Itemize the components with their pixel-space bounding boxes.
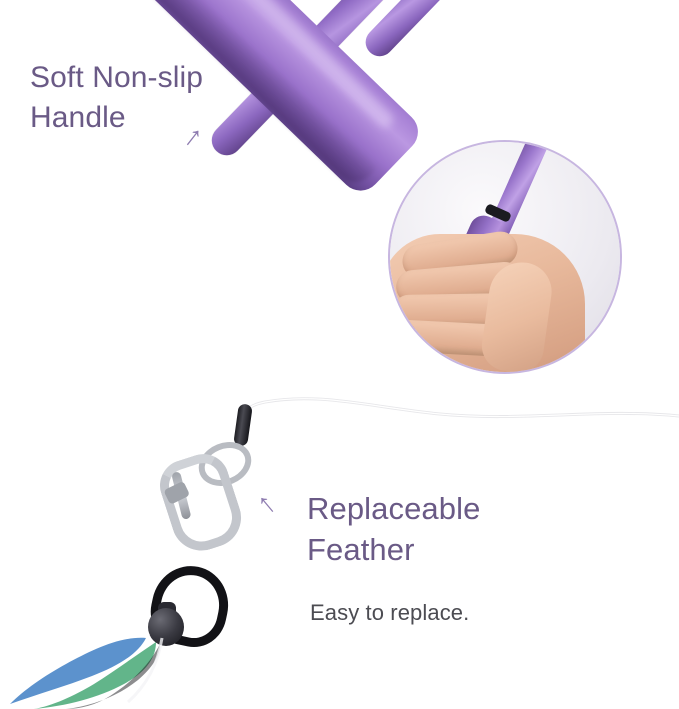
callout-soft-handle-line2: Handle — [30, 98, 330, 138]
callout-soft-handle-line1: Soft Non-slip — [30, 58, 330, 98]
product-feature-image: Soft Non-slip Handle ↑ ↑ Replaceable Fea… — [0, 0, 679, 709]
wand-rod-upper-segment — [360, 0, 498, 62]
snap-clip — [149, 452, 230, 545]
callout-replaceable-subtext: Easy to replace. — [310, 600, 610, 626]
feather-toy — [0, 620, 300, 709]
callout-replaceable-line1: Replaceable — [307, 488, 637, 529]
callout-replaceable-line2: Feather — [307, 529, 637, 570]
callout-soft-handle: Soft Non-slip Handle — [30, 58, 330, 137]
wand-string — [0, 330, 679, 460]
callout-replaceable-feather: Replaceable Feather — [307, 488, 637, 570]
